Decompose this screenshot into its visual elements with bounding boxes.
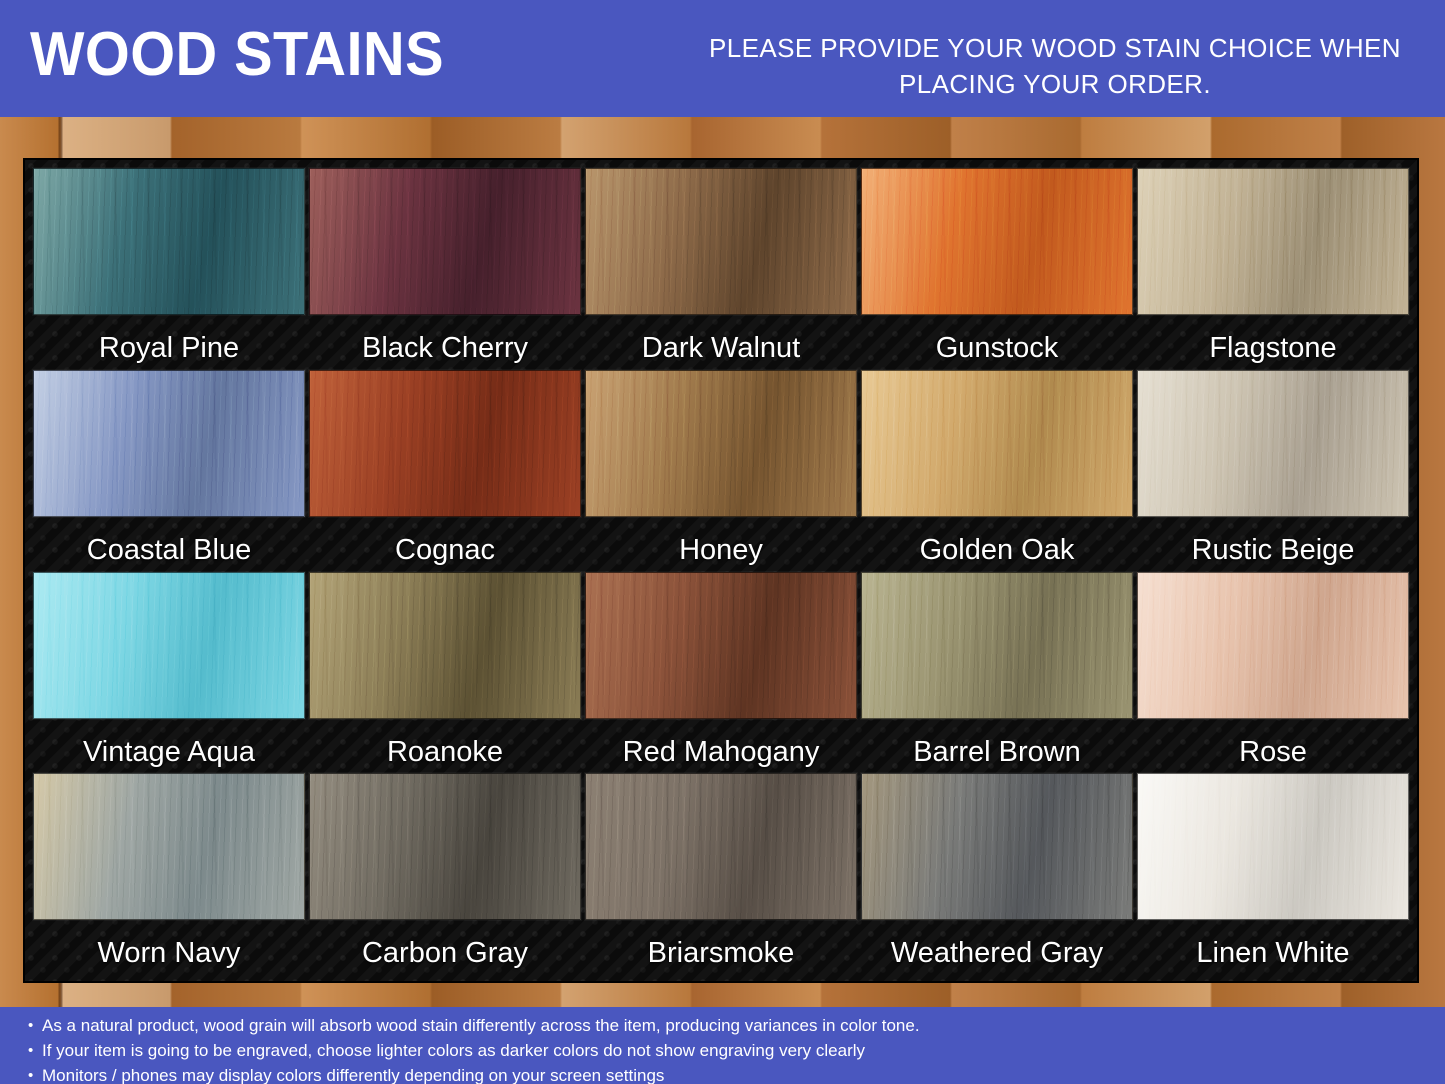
- swatch-grid: Royal PineBlack CherryDark WalnutGunstoc…: [25, 160, 1417, 981]
- stain-label: Linen White: [1196, 938, 1349, 968]
- stain-label: Briarsmoke: [648, 938, 795, 968]
- swatch-cell[interactable]: Roanoke: [307, 572, 583, 774]
- stain-swatch[interactable]: [309, 168, 581, 315]
- stain-swatch[interactable]: [1137, 168, 1409, 315]
- stain-swatch[interactable]: [861, 572, 1133, 719]
- swatch-cell[interactable]: Honey: [583, 370, 859, 572]
- swatch-cell[interactable]: Black Cherry: [307, 168, 583, 370]
- swatch-cell[interactable]: Flagstone: [1135, 168, 1411, 370]
- swatch-cell[interactable]: Red Mahogany: [583, 572, 859, 774]
- bullet-icon: •: [28, 1040, 42, 1061]
- bullet-icon: •: [28, 1015, 42, 1036]
- stain-label: Golden Oak: [920, 535, 1075, 565]
- stain-label: Rose: [1239, 737, 1307, 767]
- header-banner: WOOD STAINS PLEASE PROVIDE YOUR WOOD STA…: [0, 0, 1445, 117]
- swatch-cell[interactable]: Coastal Blue: [31, 370, 307, 572]
- swatch-cell[interactable]: Gunstock: [859, 168, 1135, 370]
- swatch-cell[interactable]: Dark Walnut: [583, 168, 859, 370]
- stain-label: Honey: [679, 535, 763, 565]
- footer-bullet-text: As a natural product, wood grain will ab…: [42, 1015, 920, 1036]
- stain-label: Vintage Aqua: [83, 737, 255, 767]
- swatch-cell[interactable]: Vintage Aqua: [31, 572, 307, 774]
- header-instruction: PLEASE PROVIDE YOUR WOOD STAIN CHOICE WH…: [705, 30, 1405, 102]
- stain-label: Coastal Blue: [87, 535, 251, 565]
- stain-swatch[interactable]: [1137, 370, 1409, 517]
- bullet-icon: •: [28, 1065, 42, 1084]
- swatch-cell[interactable]: Rustic Beige: [1135, 370, 1411, 572]
- stain-swatch[interactable]: [33, 773, 305, 920]
- footer-bullet-text: If your item is going to be engraved, ch…: [42, 1040, 865, 1061]
- swatch-cell[interactable]: Royal Pine: [31, 168, 307, 370]
- swatch-cell[interactable]: Cognac: [307, 370, 583, 572]
- stain-label: Flagstone: [1209, 333, 1336, 363]
- stain-label: Weathered Gray: [891, 938, 1103, 968]
- page-title: WOOD STAINS: [30, 22, 444, 88]
- stain-swatch[interactable]: [585, 168, 857, 315]
- stain-swatch[interactable]: [33, 168, 305, 315]
- swatch-panel: Royal PineBlack CherryDark WalnutGunstoc…: [23, 158, 1419, 983]
- stain-swatch[interactable]: [585, 572, 857, 719]
- footer-bullet: •As a natural product, wood grain will a…: [28, 1015, 1445, 1036]
- stain-label: Royal Pine: [99, 333, 239, 363]
- swatch-cell[interactable]: Briarsmoke: [583, 773, 859, 975]
- swatch-cell[interactable]: Rose: [1135, 572, 1411, 774]
- stain-label: Black Cherry: [362, 333, 528, 363]
- stain-swatch[interactable]: [33, 370, 305, 517]
- swatch-cell[interactable]: Carbon Gray: [307, 773, 583, 975]
- wood-stain-chart: WOOD STAINS PLEASE PROVIDE YOUR WOOD STA…: [0, 0, 1445, 1084]
- swatch-cell[interactable]: Golden Oak: [859, 370, 1135, 572]
- stain-label: Red Mahogany: [623, 737, 820, 767]
- stain-swatch[interactable]: [861, 773, 1133, 920]
- stain-swatch[interactable]: [585, 773, 857, 920]
- stain-label: Cognac: [395, 535, 495, 565]
- footer-notes: •As a natural product, wood grain will a…: [0, 1007, 1445, 1084]
- footer-bullet: •Monitors / phones may display colors di…: [28, 1065, 1445, 1084]
- stain-swatch[interactable]: [585, 370, 857, 517]
- stain-swatch[interactable]: [309, 370, 581, 517]
- stain-swatch[interactable]: [33, 572, 305, 719]
- swatch-cell[interactable]: Worn Navy: [31, 773, 307, 975]
- stain-swatch[interactable]: [861, 370, 1133, 517]
- stain-label: Carbon Gray: [362, 938, 528, 968]
- stain-label: Rustic Beige: [1192, 535, 1355, 565]
- swatch-cell[interactable]: Weathered Gray: [859, 773, 1135, 975]
- stain-label: Roanoke: [387, 737, 503, 767]
- stain-label: Worn Navy: [98, 938, 241, 968]
- stain-swatch[interactable]: [309, 572, 581, 719]
- footer-bullet: •If your item is going to be engraved, c…: [28, 1040, 1445, 1061]
- stain-swatch[interactable]: [1137, 572, 1409, 719]
- stain-label: Barrel Brown: [913, 737, 1081, 767]
- stain-label: Dark Walnut: [642, 333, 800, 363]
- stain-swatch[interactable]: [309, 773, 581, 920]
- stain-swatch[interactable]: [861, 168, 1133, 315]
- stain-swatch[interactable]: [1137, 773, 1409, 920]
- swatch-cell[interactable]: Linen White: [1135, 773, 1411, 975]
- stain-label: Gunstock: [936, 333, 1059, 363]
- swatch-cell[interactable]: Barrel Brown: [859, 572, 1135, 774]
- footer-bullet-text: Monitors / phones may display colors dif…: [42, 1065, 664, 1084]
